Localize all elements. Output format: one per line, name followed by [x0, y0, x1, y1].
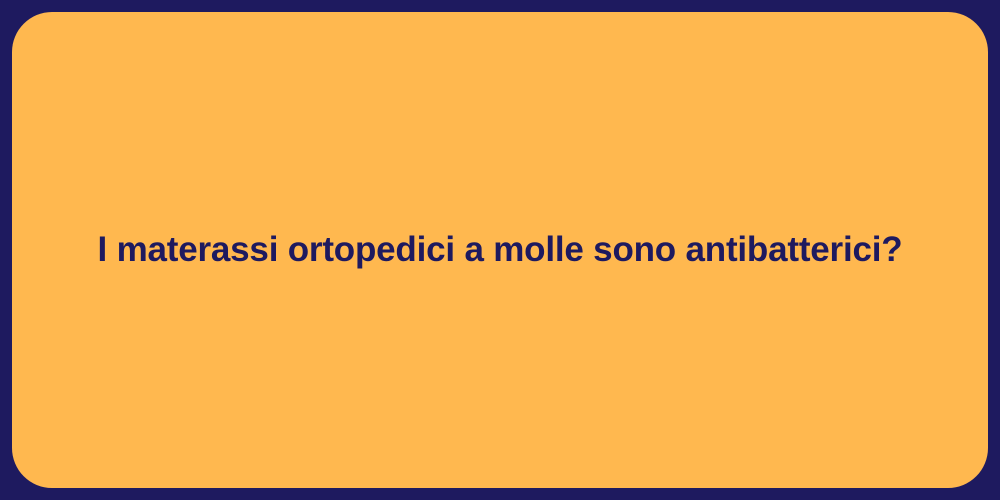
content-card: I materassi ortopedici a molle sono anti… [12, 12, 988, 488]
page-frame: I materassi ortopedici a molle sono anti… [0, 0, 1000, 500]
page-title: I materassi ortopedici a molle sono anti… [58, 228, 943, 272]
